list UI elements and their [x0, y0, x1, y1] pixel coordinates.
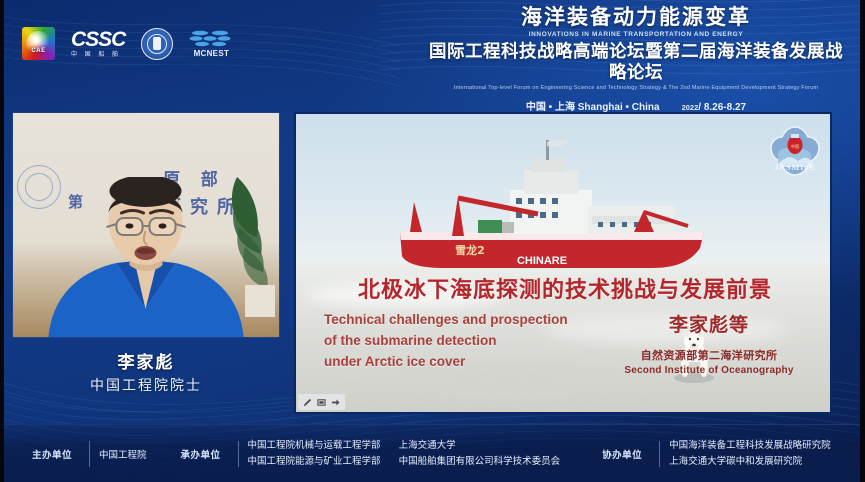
frame-edge-left: [0, 0, 4, 482]
cssc-logo: CSSC 中 国 船 舶: [71, 29, 125, 58]
arrow-icon[interactable]: [331, 398, 340, 407]
banner-location: 中国 • 上海 Shanghai • China: [526, 98, 660, 113]
presentation-slide-frame[interactable]: CHINARE 雪龙2: [294, 112, 832, 414]
sponsor-logo-row: CAE CSSC 中 国 船 舶 MCNEST: [22, 27, 233, 60]
banner-subtitle-en: International Top-level Forum on Enginee…: [421, 85, 851, 91]
footer-host-group: 主办单位 中国工程院: [24, 441, 147, 467]
cssc-logo-cn: 中 国 船 舶: [71, 52, 125, 58]
slide-title-cn: 北极冰下海底探测的技术挑战与发展前景: [306, 272, 824, 304]
footer-divider: [238, 441, 239, 467]
footer-host-value: 中国工程院: [99, 447, 147, 461]
slide-subtitle-line-2: of the submarine detection: [324, 331, 594, 352]
footer-coorganizer-2: 上海交通大学碳中和发展研究院: [669, 456, 831, 468]
banner-title-cn: 海洋装备动力能源变革: [421, 6, 851, 30]
mcnest-dots-icon: [189, 30, 233, 47]
frame-edge-right: [860, 0, 865, 482]
footer-divider: [659, 441, 660, 467]
speaker-webcam-feed: 原 部 第 研 究 所: [13, 113, 279, 337]
footer-organizer-2: 中国工程院能源与矿业工程学部: [248, 456, 381, 468]
footer-coorganizer-label: 协办单位: [594, 447, 650, 461]
footer-organizer-label: 承办单位: [173, 447, 229, 461]
footer-coorganizer-group: 协办单位 中国海洋装备工程科技发展战略研究院 上海交通大学碳中和发展研究院: [594, 440, 831, 468]
ship-hull-text: CHINARE: [517, 255, 567, 267]
slide-subtitle-line-3: under Arctic ice cover: [324, 352, 594, 373]
speaker-video-tile[interactable]: 原 部 第 研 究 所: [13, 113, 279, 337]
annotation-toolbar[interactable]: [298, 394, 345, 410]
banner-subtitle-cn: 国际工程科技战略高端论坛暨第二届海洋装备发展战略论坛: [421, 41, 851, 83]
slide-affiliation-cn: 自然资源部第二海洋研究所: [604, 347, 814, 363]
cae-logo: CAE: [22, 27, 55, 60]
banner-title-en: INNOVATIONS IN MARINE TRANSPORTATION AND…: [421, 31, 851, 38]
presentation-slide: CHINARE 雪龙2: [296, 114, 830, 412]
jasmine-logo: 中国 JASMInE: [768, 124, 822, 182]
banner-title-block: 海洋装备动力能源变革 INNOVATIONS IN MARINE TRANSPO…: [421, 6, 851, 113]
footer-organizer-3: 上海交通大学: [399, 440, 456, 452]
footer-host-label: 主办单位: [24, 447, 80, 461]
footer-organizer-1: 中国工程院机械与运载工程学部: [248, 440, 381, 452]
speaker-figure: [39, 177, 254, 337]
sponsor-footer: 主办单位 中国工程院 承办单位 中国工程院机械与运载工程学部 上海交通大学 中国…: [0, 424, 865, 482]
footer-organizer-4: 中国船舶集团有限公司科学技术委员会: [399, 456, 561, 468]
footer-divider: [89, 441, 90, 467]
banner-meta: 中国 • 上海 Shanghai • China 2022/ 8.26-8.27: [421, 98, 851, 113]
slide-subtitle-en: Technical challenges and prospection of …: [324, 310, 594, 373]
frame-icon[interactable]: [317, 398, 326, 407]
ship-name-cn: 雪龙2: [455, 243, 485, 257]
footer-organizer-group: 承办单位 中国工程院机械与运载工程学部 上海交通大学 中国工程院能源与矿业工程学…: [173, 440, 561, 468]
svg-text:中国: 中国: [791, 143, 799, 149]
slide-subtitle-line-1: Technical challenges and prospection: [324, 310, 594, 331]
mcnest-logo-text: MCNEST: [194, 50, 230, 58]
slide-affiliation-en: Second Institute of Oceanography: [604, 365, 814, 376]
mcnest-logo: MCNEST: [189, 30, 233, 58]
cae-logo-text: CAE: [22, 48, 55, 54]
seal-logo: [141, 28, 173, 60]
pen-icon[interactable]: [303, 398, 312, 407]
speaker-role: 中国工程院院士: [13, 375, 279, 395]
footer-coorganizer-1: 中国海洋装备工程科技发展战略研究院: [669, 440, 831, 452]
banner-year: 2022: [682, 103, 699, 112]
jasmine-logo-text: JASMInE: [774, 162, 815, 172]
icebreaker-ship: CHINARE 雪龙2: [392, 140, 712, 272]
presentation-stage: CAE CSSC 中 国 船 舶 MCNEST 海洋装备动力能源变革: [0, 0, 865, 482]
slide-author-block: 李家彪等 自然资源部第二海洋研究所 Second Institute of Oc…: [604, 310, 814, 376]
speaker-name: 李家彪: [13, 348, 279, 373]
slide-author-name: 李家彪等: [604, 310, 814, 337]
event-banner: CAE CSSC 中 国 船 舶 MCNEST 海洋装备动力能源变革: [0, 0, 865, 110]
cssc-logo-abbr: CSSC: [71, 29, 125, 50]
